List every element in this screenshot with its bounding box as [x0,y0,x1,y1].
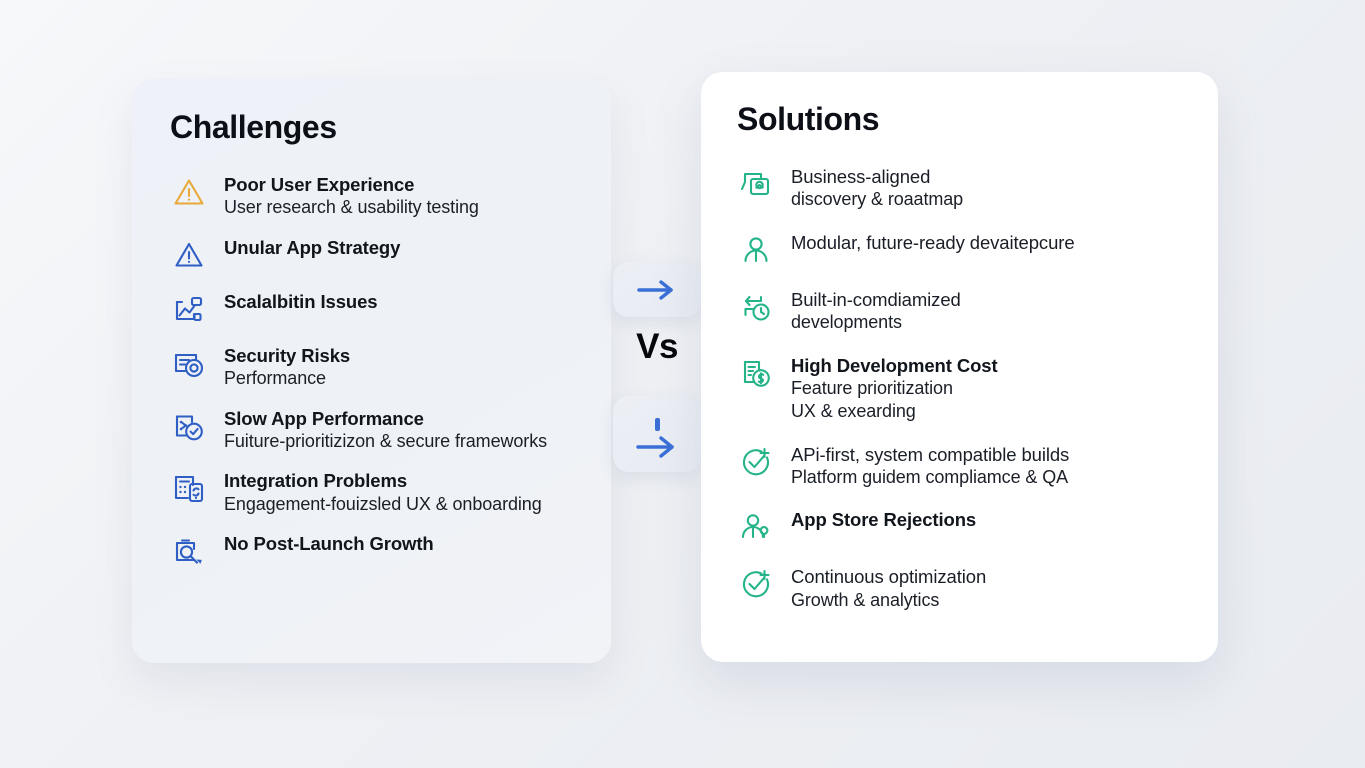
list-item-subtitle: Performance [224,367,350,390]
comparison-diagram: Challenges Poor User Experience User res… [0,0,1365,768]
list-item-subtitle: discovery & roaatmap [791,188,963,211]
list-item[interactable]: App Store Rejections [737,506,1192,546]
list-item-title: Continuous optimization [791,565,986,588]
image-discovery-icon [737,165,775,203]
list-item-title: Built-in-comdiamized [791,288,961,311]
vs-label: Vs [611,327,703,367]
list-item-title: Unular App Strategy [224,236,400,259]
search-analytics-icon [170,532,208,570]
list-item[interactable]: Poor User Experience User research & usa… [170,171,581,220]
list-item-subtitle: Growth & analytics [791,589,986,612]
list-item-title: App Store Rejections [791,508,976,531]
list-item[interactable]: Modular, future-ready devaitepcure [737,229,1192,269]
list-item[interactable]: Slow App Performance Fuiture-prioritiziz… [170,405,581,454]
chart-image-icon [170,290,208,328]
timer-refresh-icon [737,288,775,326]
list-item-title: Security Risks [224,344,350,367]
list-item-subtitle: User research & usability testing [224,196,479,219]
list-item[interactable]: Security Risks Performance [170,342,581,391]
list-item-subtitle-2: UX & exearding [791,400,998,423]
warning-triangle-blue-icon [170,236,208,274]
list-item-title: No Post-Launch Growth [224,532,434,555]
solutions-title: Solutions [737,102,1192,137]
list-item[interactable]: Continuous optimization Growth & analyti… [737,563,1192,612]
list-item[interactable]: APi-first, system compatible builds Plat… [737,441,1192,490]
list-item-subtitle: developments [791,311,961,334]
list-item[interactable]: High Development Cost Feature prioritiza… [737,352,1192,424]
list-item-subtitle: Fuiture-prioritizizon & secure framework… [224,430,547,453]
arrow-right-icon [635,279,679,301]
list-item-title: Modular, future-ready devaitepcure [791,231,1075,254]
user-badge-icon [737,508,775,546]
document-check-icon [170,407,208,445]
list-item-title: Slow App Performance [224,407,547,430]
list-item-title: High Development Cost [791,354,998,377]
divider-column: Vs [611,255,703,485]
document-security-icon [170,344,208,382]
list-item-title: Integration Problems [224,469,542,492]
user-profile-icon [737,231,775,269]
list-item[interactable]: Integration Problems Engagement-fouizsle… [170,467,581,516]
list-item[interactable]: Scalalbitin Issues [170,288,581,328]
arrow-card-top [613,262,701,317]
list-item-title: Poor User Experience [224,173,479,196]
list-item-title: Scalalbitin Issues [224,290,377,313]
list-item[interactable]: No Post-Launch Growth [170,530,581,570]
list-item-subtitle: Engagement-fouizsled UX & onboarding [224,493,542,516]
solutions-panel: Solutions Business-aligned discovery & r… [701,72,1218,662]
list-item-title: APi-first, system compatible builds [791,443,1069,466]
document-dollar-icon [737,354,775,392]
list-item[interactable]: Business-aligned discovery & roaatmap [737,163,1192,212]
integration-devices-icon [170,469,208,507]
arrow-card-bottom [613,396,701,472]
challenges-title: Challenges [170,110,581,145]
tick-mark-icon [655,418,660,431]
check-circle-plus-icon [737,565,775,603]
warning-triangle-amber-icon [170,173,208,211]
check-circle-plus-icon [737,443,775,481]
list-item[interactable]: Built-in-comdiamized developments [737,286,1192,335]
arrow-right-icon [634,435,680,459]
list-item-title: Business-aligned [791,165,963,188]
list-item-subtitle: Feature prioritization [791,377,998,400]
challenges-panel: Challenges Poor User Experience User res… [132,78,611,663]
list-item-subtitle: Platform guidem compliamce & QA [791,466,1069,489]
list-item[interactable]: Unular App Strategy [170,234,581,274]
